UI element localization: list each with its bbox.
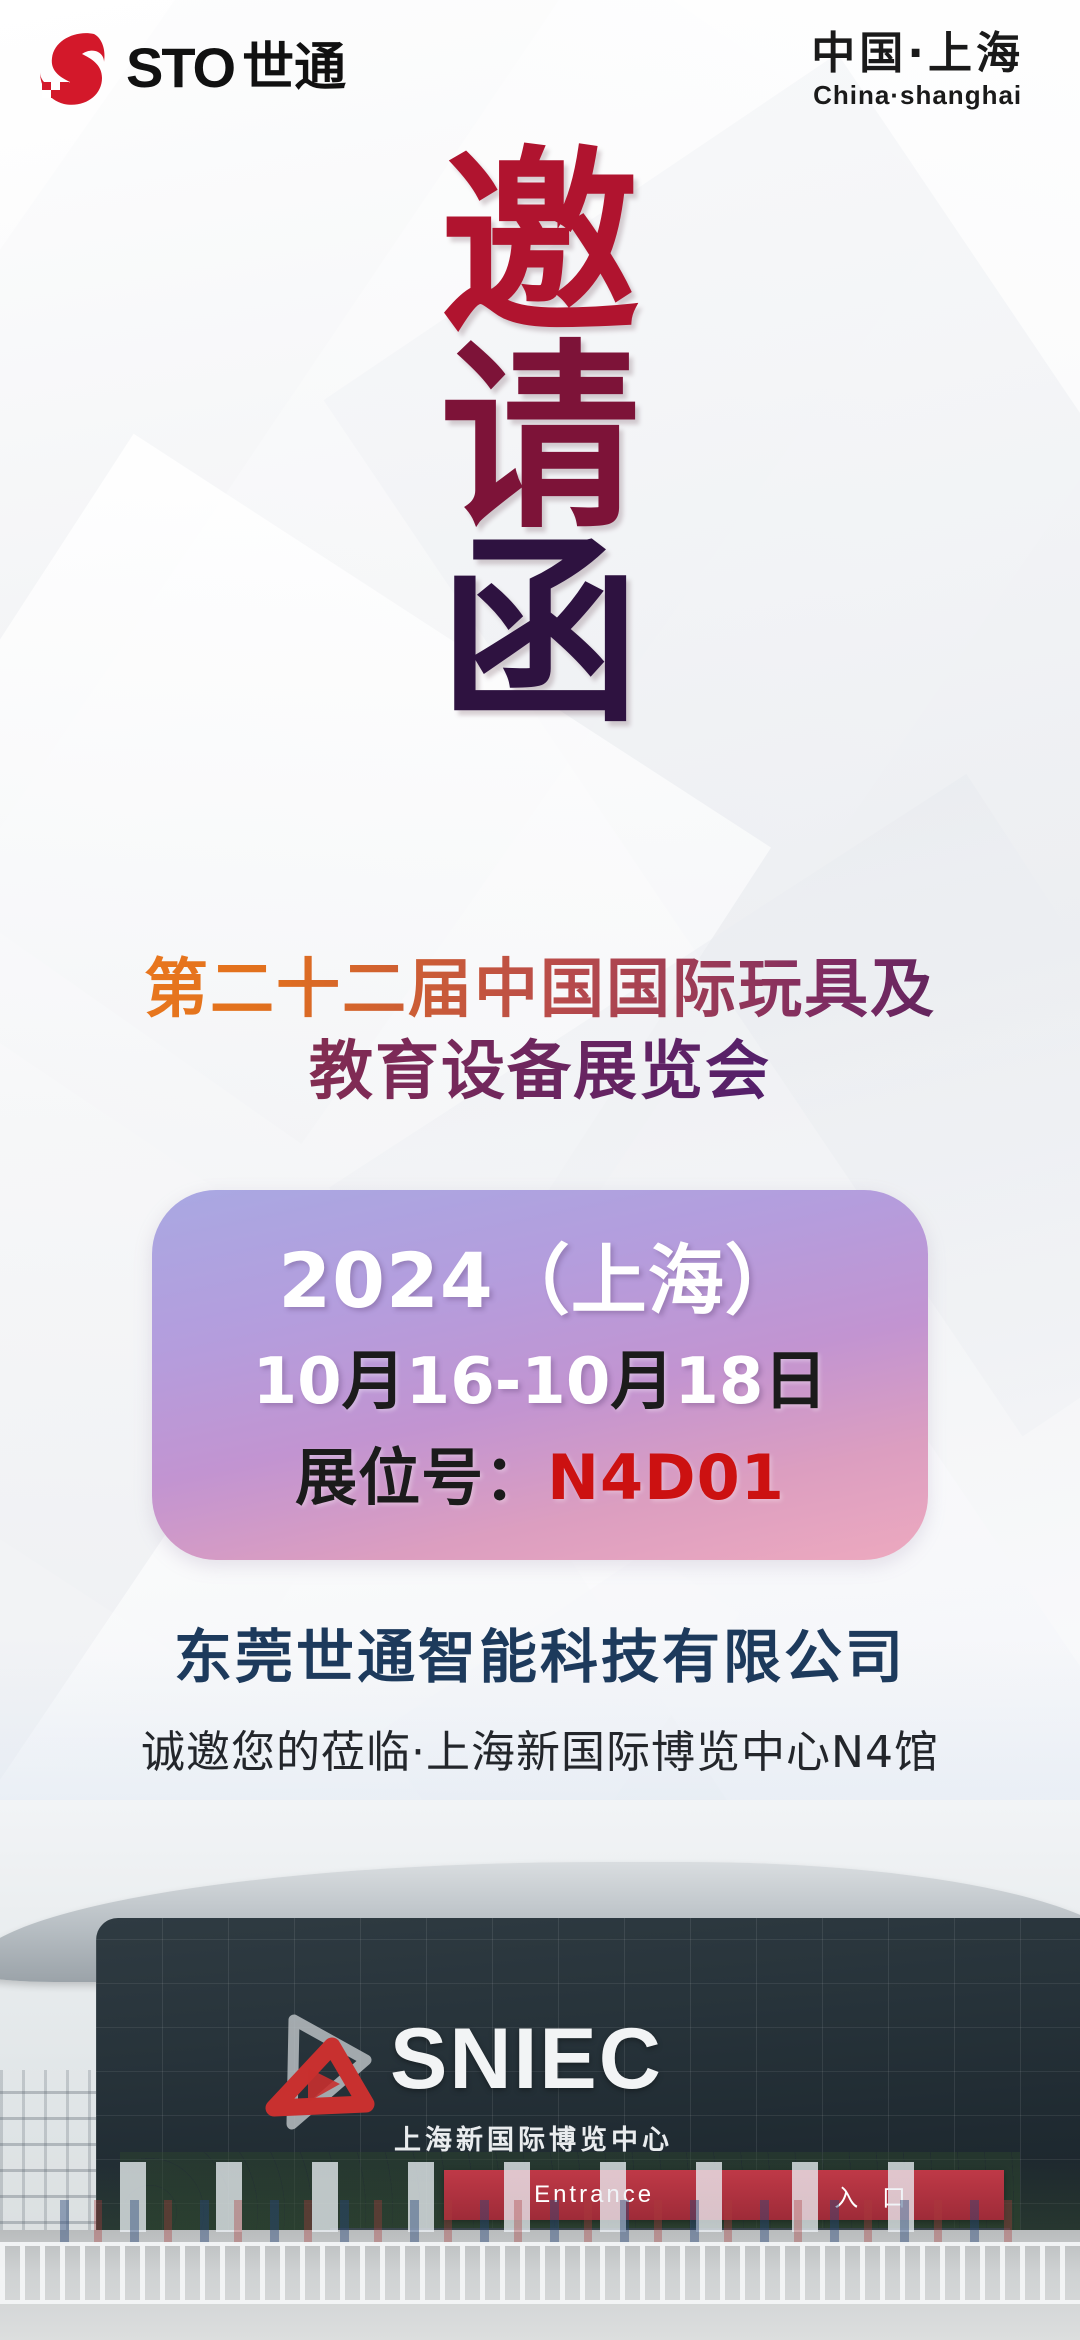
- date-month1-label: 月: [342, 1345, 406, 1419]
- location-cn: 中国·上海: [811, 30, 1024, 78]
- booth-label: 展位号：: [295, 1441, 547, 1514]
- card-booth-row: 展位号：N4D01: [295, 1442, 785, 1513]
- company-invite-line: 诚邀您的莅临·上海新国际博览中心N4馆: [0, 1716, 1080, 1780]
- subtitle-line-2: 教育设备展览会: [0, 1032, 1080, 1114]
- date-day1: 16: [406, 1345, 495, 1419]
- card-year-city: 2024（上海）: [278, 1237, 802, 1324]
- event-subtitle: 第二十二届中国国际玩具及 教育设备展览会: [0, 950, 1080, 1114]
- venue-photo: SNIEC 上海新国际博览中心 Entrance 入 口: [0, 1800, 1080, 2340]
- sto-flame-logo-icon: [36, 28, 118, 108]
- hero-char-2: 请: [440, 344, 640, 536]
- venue-name-en: SNIEC: [390, 2016, 663, 2102]
- subtitle-line-1: 第二十二届中国国际玩具及: [0, 950, 1080, 1032]
- date-month2-label: 月: [610, 1345, 674, 1419]
- date-month1-num: 10: [253, 1345, 342, 1419]
- venue-name-cn: 上海新国际博览中心: [394, 2118, 673, 2157]
- brand-logo: STO 世通: [36, 28, 346, 108]
- company-block: 东莞世通智能科技有限公司 诚邀您的莅临·上海新国际博览中心N4馆: [0, 1610, 1080, 1780]
- sniec-triangle-logo-icon: [248, 2012, 376, 2134]
- company-name: 东莞世通智能科技有限公司: [0, 1610, 1080, 1694]
- location-en: China·shanghai: [811, 80, 1024, 111]
- photo-crowd: [60, 2200, 1040, 2244]
- booth-number: N4D01: [547, 1441, 785, 1514]
- hero-title: 邀 请 函: [0, 150, 1080, 730]
- card-date-range: 10月16-10月18日: [253, 1346, 828, 1420]
- logo-text-cn: 世通: [242, 42, 346, 94]
- invitation-poster: STO 世通 中国·上海 China·shanghai 邀 请 函 第二十二届中…: [0, 0, 1080, 2340]
- hero-char-1: 邀: [440, 150, 640, 342]
- location-block: 中国·上海 China·shanghai: [811, 30, 1024, 111]
- hero-char-3: 函: [440, 538, 640, 730]
- date-day-suffix: 日: [763, 1345, 827, 1419]
- date-day2: 18: [674, 1345, 763, 1419]
- logo-text-en: STO: [126, 40, 234, 96]
- date-separator: -: [495, 1345, 522, 1419]
- event-info-card: 2024（上海） 10月16-10月18日 展位号：N4D01: [152, 1190, 928, 1560]
- photo-fence: [0, 2242, 1080, 2304]
- poster-header: STO 世通 中国·上海 China·shanghai: [0, 0, 1080, 140]
- date-month2-num: 10: [521, 1345, 610, 1419]
